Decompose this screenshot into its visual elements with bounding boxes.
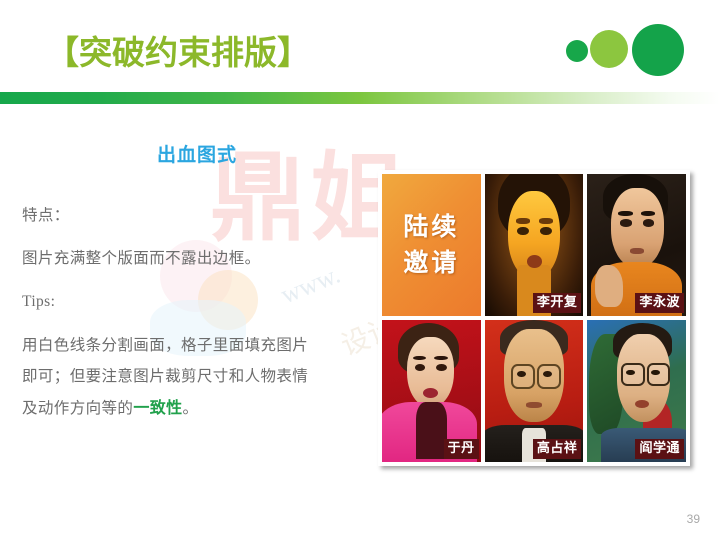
collage-grid: 陆续 邀请 李开复: [382, 174, 686, 462]
decorative-circles: [562, 24, 692, 76]
tips-line-1: 用白色线条分割画面，格子里面填充图片: [22, 330, 360, 361]
caption-yanxuetong: 阎学通: [635, 439, 684, 459]
collage-cell-title[interactable]: 陆续 邀请: [382, 174, 481, 316]
collage-title-line-1: 陆续: [403, 209, 459, 245]
collage-cell-likaifu[interactable]: 李开复: [485, 174, 584, 316]
photo-collage[interactable]: 陆续 邀请 李开复: [378, 170, 690, 466]
collage-cell-yudan[interactable]: 于丹: [382, 320, 481, 462]
text-column: 出血图式 特点： 图片充满整个版面而不露出边框。 Tips: 用白色线条分割画面…: [0, 140, 372, 424]
circle-medium-icon: [590, 30, 628, 68]
feature-text: 图片充满整个版面而不露出边框。: [22, 244, 360, 274]
caption-liyongbo: 李永波: [635, 293, 684, 313]
page-title: 【突破约束排版】: [46, 26, 310, 74]
page-number: 39: [687, 512, 700, 526]
tips-line-2: 即可；但要注意图片裁剪尺寸和人物表情: [22, 361, 360, 392]
collage-cell-gaozhanxiang[interactable]: 高占祥: [485, 320, 584, 462]
caption-gaozhanxiang: 高占祥: [533, 439, 582, 459]
tips-label: Tips:: [22, 287, 360, 317]
collage-title-line-2: 邀请: [403, 245, 459, 281]
caption-likaifu: 李开复: [533, 293, 582, 313]
slide-canvas: 鼎姐 www. 设计 【突破约束排版】 出血图式 特点： 图片充满整个版面而不露…: [0, 0, 720, 540]
feature-label: 特点：: [22, 201, 360, 231]
tips-emphasis: 一致性: [133, 398, 182, 417]
tips-line-3-suffix: 。: [183, 400, 199, 417]
circle-large-icon: [632, 24, 684, 76]
tips-line-3: 及动作方向等的一致性。: [22, 392, 360, 424]
caption-yudan: 于丹: [444, 439, 479, 459]
collage-cell-liyongbo[interactable]: 李永波: [587, 174, 686, 316]
collage-cell-yanxuetong[interactable]: 阎学通: [587, 320, 686, 462]
tips-line-3-prefix: 及动作方向等的: [22, 400, 133, 417]
header-divider-bar: [0, 92, 720, 104]
section-heading: 出血图式: [0, 140, 372, 167]
circle-small-icon: [566, 40, 588, 62]
body-text-block: 特点： 图片充满整个版面而不露出边框。 Tips: 用白色线条分割画面，格子里面…: [0, 201, 372, 424]
